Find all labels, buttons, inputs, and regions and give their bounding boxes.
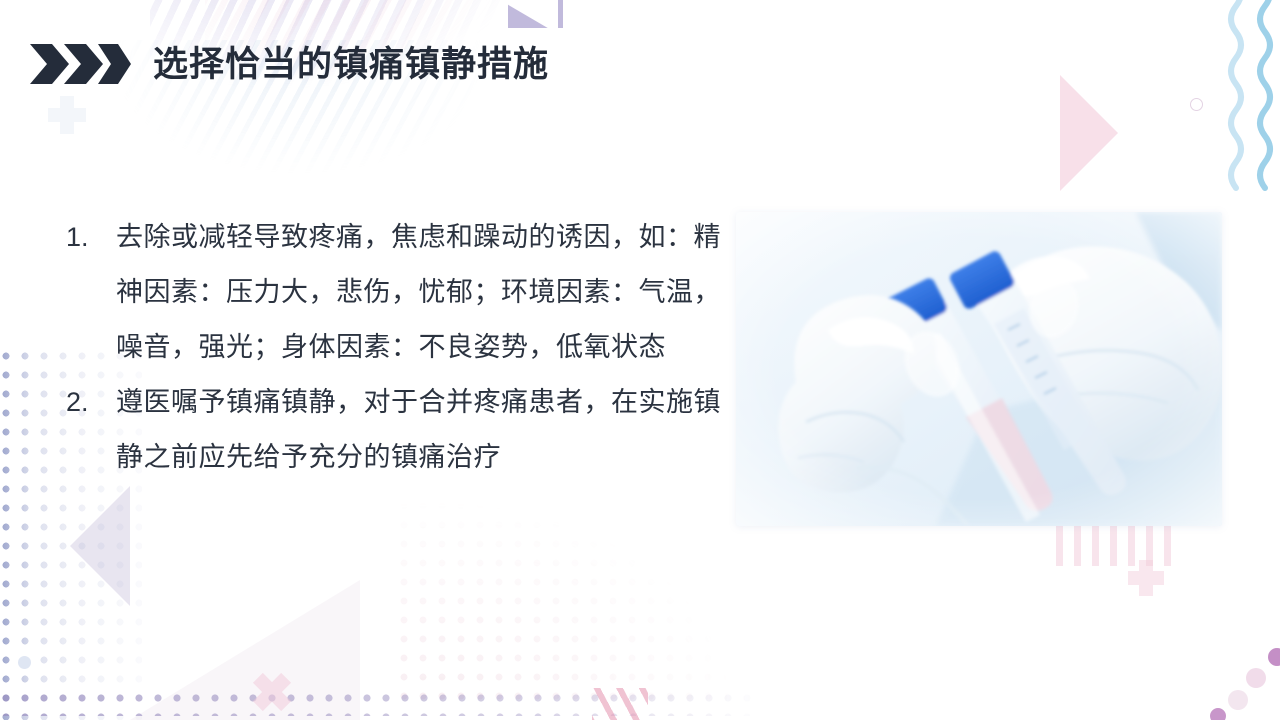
- content-list: 1. 去除或减轻导致疼痛，焦虑和躁动的诱因，如：精神因素：压力大，悲伤，忧郁；环…: [66, 210, 726, 485]
- page-title: 选择恰当的镇痛镇静措施: [153, 47, 549, 82]
- list-item: 2. 遵医嘱予镇痛镇静，对于合并疼痛患者，在实施镇静之前应先给予充分的镇痛治疗: [66, 375, 726, 485]
- pink-vertical-stripes-decoration: [1056, 524, 1174, 566]
- pink-circle-decoration: [1228, 690, 1248, 710]
- list-item: 1. 去除或减轻导致疼痛，焦虑和躁动的诱因，如：精神因素：压力大，悲伤，忧郁；环…: [66, 210, 726, 375]
- laboratory-photo: [736, 212, 1222, 526]
- faint-plus-decoration: [48, 96, 86, 134]
- purple-left-triangle-decoration: [70, 486, 130, 606]
- purple-corner-mask-decoration: [500, 0, 558, 34]
- slide-canvas: 选择恰当的镇痛镇静措施 1. 去除或减轻导致疼痛，焦虑和躁动的诱因，如：精神因素…: [0, 0, 1280, 720]
- pink-slash-decoration: [592, 688, 648, 720]
- bottom-dot-grid-decoration: [2, 694, 762, 716]
- purple-circle-decoration: [1210, 708, 1226, 720]
- list-item-text: 去除或减轻导致疼痛，焦虑和躁动的诱因，如：精神因素：压力大，悲伤，忧郁；环境因素…: [116, 210, 726, 375]
- blue-circle-decoration: [18, 656, 31, 669]
- triple-chevron-right-icon: [28, 42, 131, 86]
- purple-block-decoration: [508, 0, 563, 28]
- small-ring-decoration: [1190, 98, 1203, 111]
- purple-circle-decoration: [1268, 648, 1280, 666]
- list-item-text: 遵医嘱予镇痛镇静，对于合并疼痛患者，在实施镇静之前应先给予充分的镇痛治疗: [116, 375, 726, 485]
- slide-header: 选择恰当的镇痛镇静措施: [28, 33, 549, 95]
- pink-triangle-decoration: [1060, 75, 1118, 191]
- pink-plus-decoration: [1128, 560, 1164, 596]
- pink-circle-decoration: [1246, 668, 1266, 688]
- pink-cross-decoration: [252, 672, 292, 712]
- list-item-number: 1.: [66, 210, 116, 265]
- list-item-number: 2.: [66, 375, 116, 430]
- faint-triangle-decoration: [130, 580, 360, 720]
- blue-wavy-lines-decoration: [1210, 0, 1280, 200]
- pink-dot-grid-decoration: [400, 502, 730, 702]
